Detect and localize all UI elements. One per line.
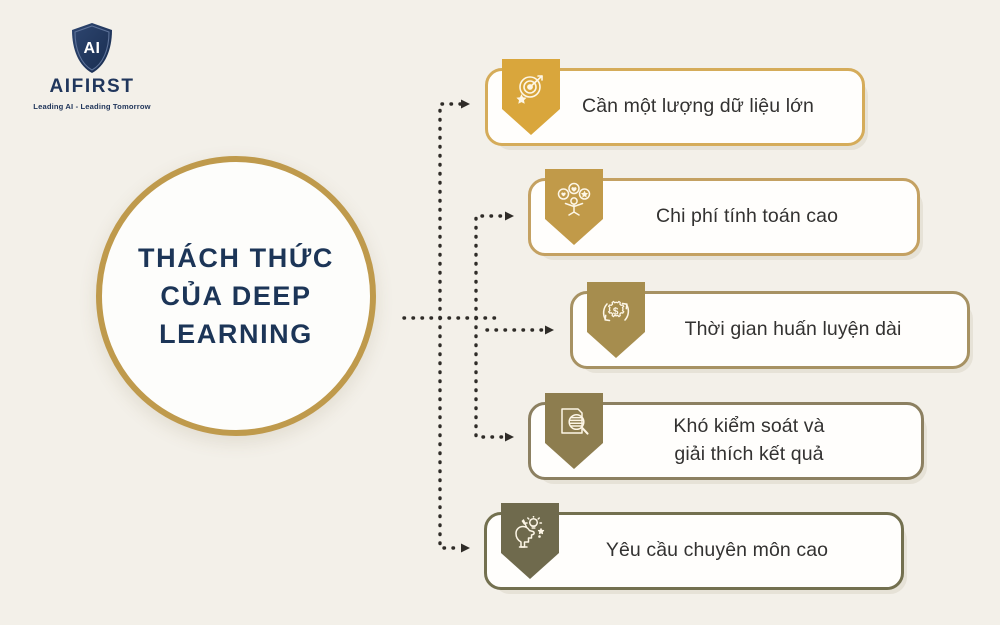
brand-logo: AI AIFIRST Leading AI - Leading Tomorrow [22, 22, 162, 111]
page-title: THÁCH THỨC CỦA DEEP LEARNING [124, 239, 348, 354]
shield-ai-icon: AI [70, 22, 114, 74]
challenge-card[interactable]: $ Thời gian huấn luyện dài [570, 291, 970, 369]
svg-text:AI: AI [84, 40, 101, 57]
brand-tagline: Leading AI - Leading Tomorrow [22, 102, 162, 111]
target-arrow-star-icon [514, 72, 548, 106]
center-circle: THÁCH THỨC CỦA DEEP LEARNING [96, 156, 376, 436]
connector-card-2 [476, 216, 506, 318]
head-lightbulb-idea-icon [513, 516, 547, 550]
challenge-card[interactable]: Cần một lượng dữ liệu lớn [485, 68, 865, 146]
challenge-card[interactable]: Chi phí tính toán cao [528, 178, 920, 256]
card-badge [545, 169, 603, 245]
card-badge: $ [587, 282, 645, 358]
challenge-card[interactable]: Yêu cầu chuyên môn cao [484, 512, 904, 590]
card-badge [545, 393, 603, 469]
card-badge [502, 59, 560, 135]
shield-logo-wrap: AI [22, 22, 162, 74]
challenge-card[interactable]: Khó kiểm soát và giải thích kết quả [528, 402, 924, 480]
brand-name: AIFIRST [22, 76, 162, 98]
person-feedback-icon [557, 182, 591, 216]
gear-dollar-refresh-icon: $ [599, 295, 633, 329]
connector-card-5 [440, 318, 462, 548]
svg-text:$: $ [613, 306, 619, 317]
connector-card-1 [440, 104, 462, 318]
card-badge [501, 503, 559, 579]
connector-card-4 [476, 318, 506, 437]
document-magnifier-icon [557, 406, 591, 440]
